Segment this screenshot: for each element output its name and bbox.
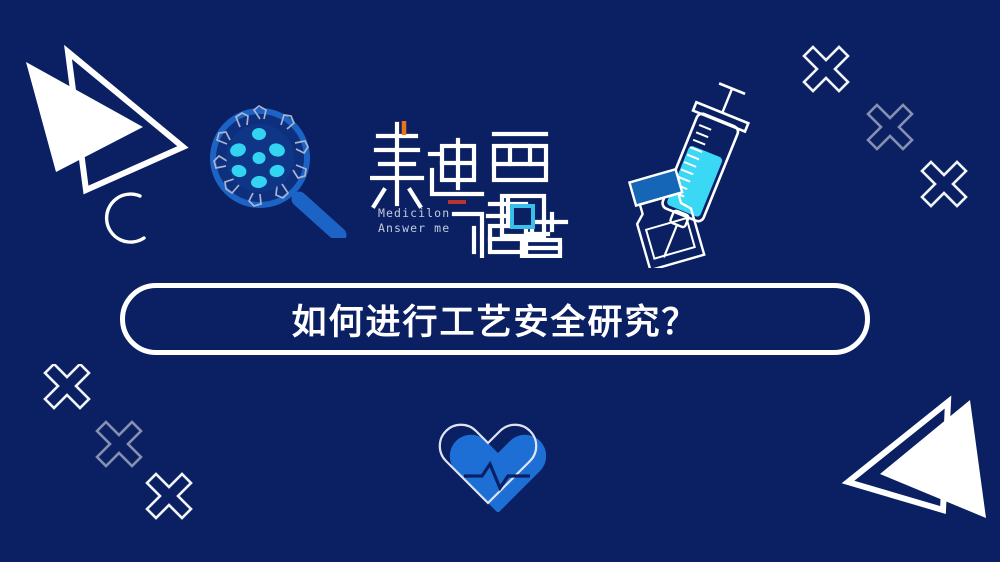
- cross-shape: [922, 162, 966, 206]
- magnifier-handle: [299, 199, 339, 235]
- triangle-pair-bottom-right: [838, 392, 1000, 552]
- title-pill: 如何进行工艺安全研究？: [120, 283, 870, 355]
- brand-logo: Medicilon Answer me: [370, 118, 585, 258]
- arc-c-shape-left: [92, 186, 158, 252]
- triangle-pair-top-left: [8, 22, 208, 212]
- cross-shape: [804, 47, 848, 91]
- heart-filled: [450, 435, 546, 512]
- heart-bolt-icon: [436, 408, 546, 512]
- cross-shape: [147, 474, 191, 518]
- virus-body: [226, 124, 294, 192]
- cross-shape: [45, 364, 89, 408]
- syringe-liquid: [666, 145, 723, 218]
- cross-shape: [97, 422, 141, 466]
- magnifier-lens: [213, 111, 307, 205]
- syringe-barrel: [661, 112, 740, 223]
- page-title: 如何进行工艺安全研究？: [291, 294, 698, 345]
- logo-char-di: [430, 140, 482, 194]
- logo-char-mei: [372, 124, 422, 206]
- syringe-vial-icon: [628, 78, 768, 268]
- logo-glyphs: [370, 118, 585, 258]
- virus-spikes: [214, 106, 308, 206]
- logo-latin-text: Medicilon Answer me: [378, 206, 483, 235]
- syringe-tip: [670, 210, 690, 228]
- heartbeat-line: [464, 464, 530, 488]
- syringe-flange: [693, 102, 748, 131]
- syringe-needle: [664, 224, 677, 257]
- vial-body: [632, 191, 704, 268]
- syringe-plunger-rod: [722, 89, 732, 113]
- cross-cluster-top-right: [782, 22, 1000, 242]
- magnifier-virus-icon: [203, 103, 348, 238]
- cross-shape: [868, 105, 912, 149]
- logo-latin-line2: Answer me: [378, 221, 483, 236]
- vial-label: [646, 218, 695, 258]
- vial-cap: [629, 169, 682, 205]
- triangle-filled-top-left: [26, 62, 143, 172]
- logo-char-xi: [494, 134, 546, 180]
- arc-stroke: [107, 194, 144, 242]
- triangle-outline-bottom-right: [848, 402, 948, 510]
- logo-hui-inner-accent: [512, 206, 533, 227]
- triangle-filled-bottom-right: [880, 400, 986, 518]
- cross-cluster-bottom-left: [28, 364, 208, 544]
- syringe-plunger-head: [719, 83, 745, 93]
- poster-canvas: Medicilon Answer me: [0, 0, 1000, 562]
- syringe-graduations: [672, 125, 711, 197]
- logo-latin-line1: Medicilon: [378, 206, 483, 221]
- triangle-outline-top-left: [68, 52, 183, 190]
- virus-nodes: [228, 128, 286, 189]
- heart-outline: [440, 425, 536, 503]
